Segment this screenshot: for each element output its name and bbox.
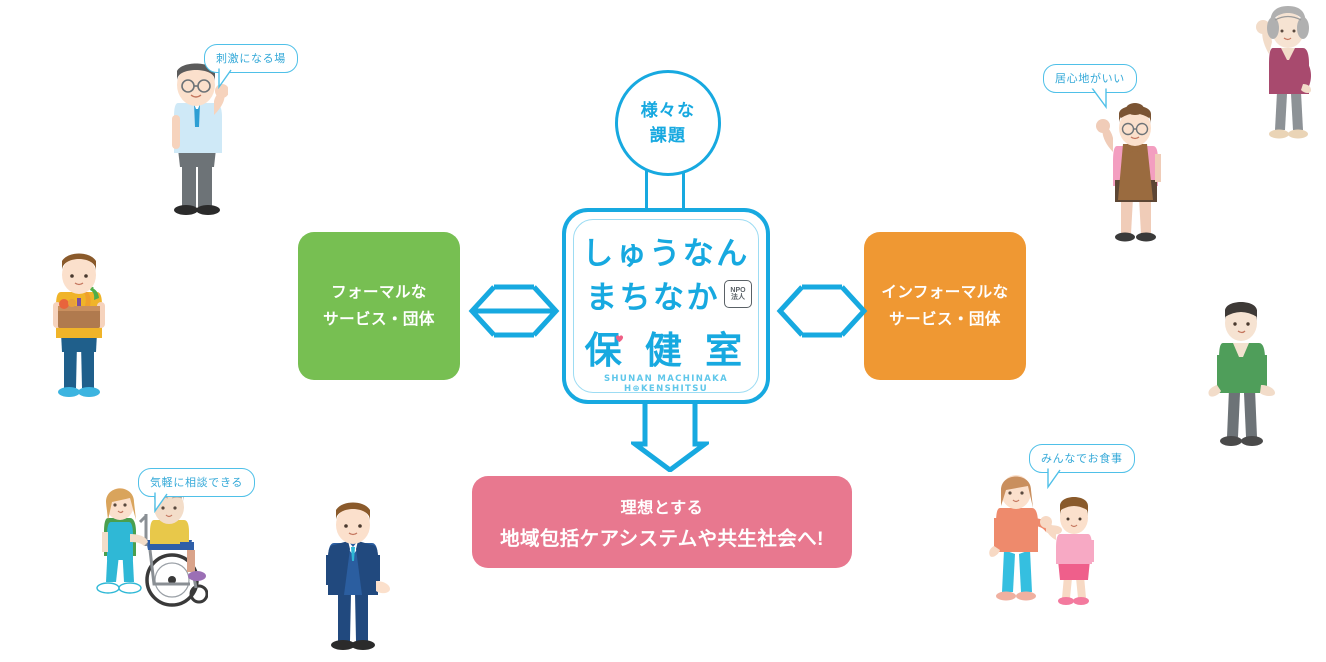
- bubble-tail-icon: [153, 491, 175, 513]
- card-goal-line-2: 地域包括ケアシステムや共生社会へ!: [500, 522, 824, 551]
- npo-badge-line-2: 法人: [731, 294, 745, 301]
- bubble-comfort: 居心地がいい: [1043, 64, 1137, 93]
- person-mother-and-child: [988, 474, 1104, 610]
- card-goal[interactable]: 理想とする 地域包括ケアシステムや共生社会へ!: [472, 476, 852, 568]
- card-informal-services[interactable]: インフォーマルな サービス・団体: [864, 232, 1026, 380]
- bubble-stimulus: 刺激になる場: [204, 44, 298, 73]
- bubble-tail-icon: [1046, 467, 1068, 489]
- person-businessman-suit: [314, 497, 390, 657]
- bubble-consult: 気軽に相談できる: [138, 468, 255, 497]
- issue-node: 様々な 課題: [615, 70, 721, 176]
- bubble-stimulus-text: 刺激になる場: [216, 53, 286, 65]
- issue-line-2: 課題: [650, 123, 686, 149]
- double-arrow-right-icon: [776, 283, 868, 339]
- diagram-canvas: 様々な 課題 しゅうなん まちなか 保 健 室 SHUNAN MACHINAKA…: [0, 0, 1326, 662]
- card-formal-line-1: フォーマルな: [331, 279, 427, 306]
- bubble-tail-icon: [217, 67, 239, 89]
- npo-badge: NPO 法人: [724, 280, 752, 308]
- logo-line-1: しゅうなん: [566, 228, 766, 273]
- logo-line-3: 保 健 室: [566, 320, 766, 374]
- bubble-consult-text: 気軽に相談できる: [150, 477, 243, 489]
- npo-badge-line-1: NPO: [730, 287, 745, 294]
- card-informal-line-1: インフォーマルな: [881, 279, 1008, 306]
- issue-line-1: 様々な: [641, 98, 696, 124]
- person-man-green-jacket: [1205, 297, 1279, 453]
- card-formal-line-2: サービス・団体: [323, 306, 435, 333]
- heart-icon: [615, 334, 624, 343]
- person-woman-apron: [1095, 100, 1175, 248]
- bubble-comfort-text: 居心地がいい: [1055, 73, 1125, 85]
- person-elderly-woman: [1253, 4, 1323, 146]
- arrow-down-icon: [631, 404, 709, 472]
- card-formal-services[interactable]: フォーマルな サービス・団体: [298, 232, 460, 380]
- double-arrow-left-icon: [468, 283, 560, 339]
- bubble-meal-text: みんなでお食事: [1041, 453, 1123, 465]
- bubble-meal: みんなでお食事: [1029, 444, 1135, 473]
- card-informal-line-2: サービス・団体: [889, 306, 1001, 333]
- card-goal-line-1: 理想とする: [621, 494, 704, 518]
- logo-tagline: SHUNAN MACHINAKA H⊕KENSHITSU: [566, 374, 766, 394]
- logo-card: しゅうなん まちなか 保 健 室 SHUNAN MACHINAKA H⊕KENS…: [562, 208, 770, 404]
- person-man-vegetable-box: [44, 248, 114, 403]
- bubble-tail-icon: [1090, 87, 1112, 109]
- person-caregiver-wheelchair: [84, 480, 208, 612]
